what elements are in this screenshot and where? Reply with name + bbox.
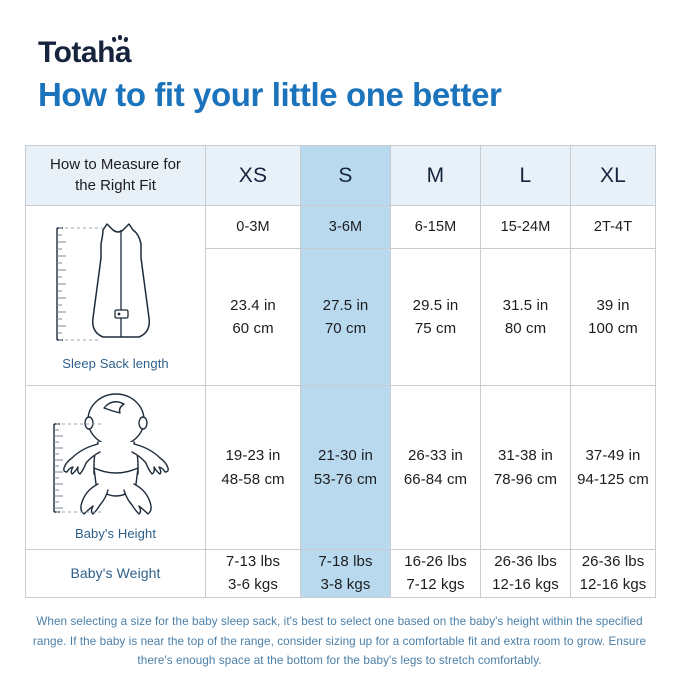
age-cell-l: 15-24M — [481, 206, 571, 249]
baby-height-caption: Baby's Height — [75, 526, 156, 541]
height-in-m: 26-33 in — [391, 444, 480, 467]
sack-in-s: 27.5 in — [301, 294, 390, 317]
table-row-baby-weight: Baby's Weight 7-13 lbs 3-6 kgs 7-18 lbs … — [26, 550, 656, 598]
weight-kgs-m: 7-12 kgs — [391, 573, 480, 596]
sack-cell-xl: 39 in 100 cm — [571, 249, 656, 386]
corner-header-label: How to Measure for the Right Fit — [26, 155, 205, 196]
height-cm-m: 66-84 cm — [391, 468, 480, 491]
weight-lbs-s: 7-18 lbs — [301, 550, 390, 573]
corner-header-cell: How to Measure for the Right Fit — [26, 146, 206, 206]
age-cell-m: 6-15M — [391, 206, 481, 249]
height-in-xs: 19-23 in — [206, 444, 300, 467]
age-value-m: 6-15M — [415, 219, 457, 235]
height-in-s: 21-30 in — [301, 444, 390, 467]
height-cm-xs: 48-58 cm — [206, 468, 300, 491]
baby-weight-label: Baby's Weight — [26, 565, 205, 581]
age-cell-xl: 2T-4T — [571, 206, 656, 249]
sleep-sack-label-cell: Sleep Sack length — [26, 206, 206, 386]
sleep-sack-illustration-icon — [41, 218, 191, 350]
age-value-s: 3-6M — [329, 219, 362, 235]
size-label-xs: XS — [206, 164, 300, 188]
sack-cm-m: 75 cm — [391, 317, 480, 340]
size-chart-page: Totaha How to fit your little one better… — [0, 0, 679, 679]
height-cell-xs: 19-23 in 48-58 cm — [206, 386, 301, 550]
sleep-sack-caption: Sleep Sack length — [62, 356, 169, 371]
size-label-l: L — [481, 164, 570, 188]
sack-cell-l: 31.5 in 80 cm — [481, 249, 571, 386]
sizing-note: When selecting a size for the baby sleep… — [22, 612, 657, 671]
sack-in-xl: 39 in — [571, 294, 655, 317]
size-header-xs[interactable]: XS — [206, 146, 301, 206]
size-header-m[interactable]: M — [391, 146, 481, 206]
size-chart-table: How to Measure for the Right Fit XS S M … — [25, 145, 656, 598]
height-cm-s: 53-76 cm — [301, 468, 390, 491]
height-cell-xl: 37-49 in 94-125 cm — [571, 386, 656, 550]
weight-kgs-s: 3-8 kgs — [301, 573, 390, 596]
size-header-l[interactable]: L — [481, 146, 571, 206]
weight-lbs-m: 16-26 lbs — [391, 550, 480, 573]
height-cell-l: 31-38 in 78-96 cm — [481, 386, 571, 550]
weight-cell-xl: 26-36 lbs 12-16 kgs — [571, 550, 656, 598]
weight-cell-xs: 7-13 lbs 3-6 kgs — [206, 550, 301, 598]
weight-lbs-l: 26-36 lbs — [481, 550, 570, 573]
weight-lbs-xs: 7-13 lbs — [206, 550, 300, 573]
brand-name: Totaha — [38, 38, 131, 68]
sack-in-xs: 23.4 in — [206, 294, 300, 317]
age-cell-xs: 0-3M — [206, 206, 301, 249]
table-row-baby-height: Baby's Height 19-23 in 48-58 cm 21-30 in… — [26, 386, 656, 550]
baby-weight-label-cell: Baby's Weight — [26, 550, 206, 598]
baby-illustration-icon — [40, 392, 192, 520]
sack-in-m: 29.5 in — [391, 294, 480, 317]
table-header-row: How to Measure for the Right Fit XS S M … — [26, 146, 656, 206]
sack-cell-s: 27.5 in 70 cm — [301, 249, 391, 386]
sack-cm-l: 80 cm — [481, 317, 570, 340]
weight-kgs-l: 12-16 kgs — [481, 573, 570, 596]
weight-cell-l: 26-36 lbs 12-16 kgs — [481, 550, 571, 598]
height-in-xl: 37-49 in — [571, 444, 655, 467]
sack-cm-s: 70 cm — [301, 317, 390, 340]
age-value-l: 15-24M — [501, 219, 551, 235]
size-header-s[interactable]: S — [301, 146, 391, 206]
age-value-xl: 2T-4T — [594, 219, 632, 235]
size-label-s: S — [301, 164, 390, 188]
age-cell-s: 3-6M — [301, 206, 391, 249]
height-cm-xl: 94-125 cm — [571, 468, 655, 491]
page-title: How to fit your little one better — [38, 76, 501, 114]
weight-kgs-xl: 12-16 kgs — [571, 573, 655, 596]
size-label-xl: XL — [571, 164, 655, 188]
height-cell-s: 21-30 in 53-76 cm — [301, 386, 391, 550]
size-label-m: M — [391, 164, 480, 188]
sack-cell-xs: 23.4 in 60 cm — [206, 249, 301, 386]
age-value-xs: 0-3M — [236, 219, 269, 235]
height-in-l: 31-38 in — [481, 444, 570, 467]
table-row-age: Sleep Sack length 0-3M 3-6M 6-15M 15-24M… — [26, 206, 656, 249]
baby-height-label-cell: Baby's Height — [26, 386, 206, 550]
weight-lbs-xl: 26-36 lbs — [571, 550, 655, 573]
weight-cell-m: 16-26 lbs 7-12 kgs — [391, 550, 481, 598]
size-header-xl[interactable]: XL — [571, 146, 656, 206]
sack-cm-xs: 60 cm — [206, 317, 300, 340]
height-cell-m: 26-33 in 66-84 cm — [391, 386, 481, 550]
weight-kgs-xs: 3-6 kgs — [206, 573, 300, 596]
sack-in-l: 31.5 in — [481, 294, 570, 317]
sack-cell-m: 29.5 in 75 cm — [391, 249, 481, 386]
weight-cell-s: 7-18 lbs 3-8 kgs — [301, 550, 391, 598]
sack-cm-xl: 100 cm — [571, 317, 655, 340]
brand-logo: Totaha — [38, 26, 131, 68]
height-cm-l: 78-96 cm — [481, 468, 570, 491]
